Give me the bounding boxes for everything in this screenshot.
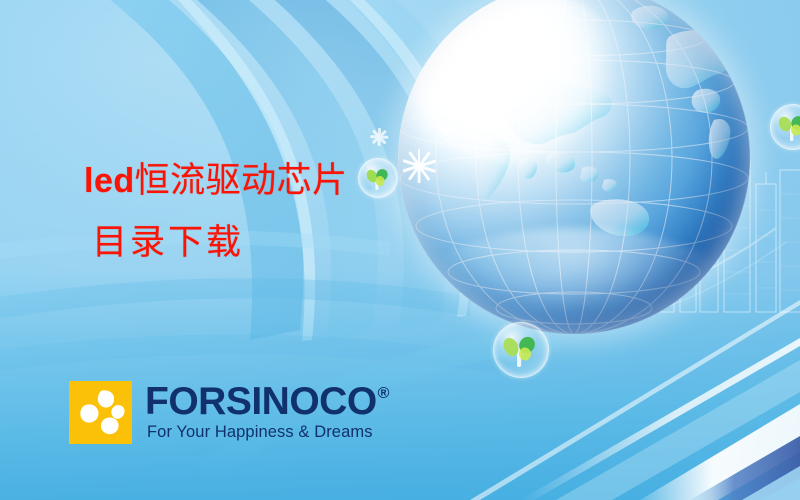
bubble-sprout-right — [770, 104, 800, 150]
brand-wordmark-block: FORSINOCO ® For Your Happiness & Dreams — [145, 383, 389, 442]
daisy-flower-small — [370, 127, 389, 146]
globe-icon — [398, 0, 750, 334]
page-title: led恒流驱动芯片 目录下载 — [84, 163, 348, 260]
brand-tagline: For Your Happiness & Dreams — [147, 423, 389, 442]
brand-logo[interactable]: FORSINOCO ® For Your Happiness & Dreams — [69, 381, 389, 444]
daisy-flower-large — [401, 148, 437, 184]
headline-latin: led — [84, 162, 135, 200]
four-petal-pinwheel-icon — [69, 381, 132, 444]
registered-trademark-icon: ® — [378, 386, 389, 402]
daisy-flower-tiny — [440, 121, 455, 136]
bubble-sprout-upper — [358, 158, 398, 198]
headline-cjk: 恒流驱动芯片 — [135, 161, 348, 200]
bubble-sprout-center — [493, 322, 549, 378]
banner-canvas: led恒流驱动芯片 目录下载 FORSINOCO ® For Your Happ… — [0, 0, 800, 500]
headline-line-2: 目录下载 — [84, 225, 348, 260]
brand-wordmark: FORSINOCO ® — [145, 383, 389, 420]
brand-name: FORSINOCO — [145, 383, 377, 420]
headline-line-1: led恒流驱动芯片 — [84, 163, 348, 198]
